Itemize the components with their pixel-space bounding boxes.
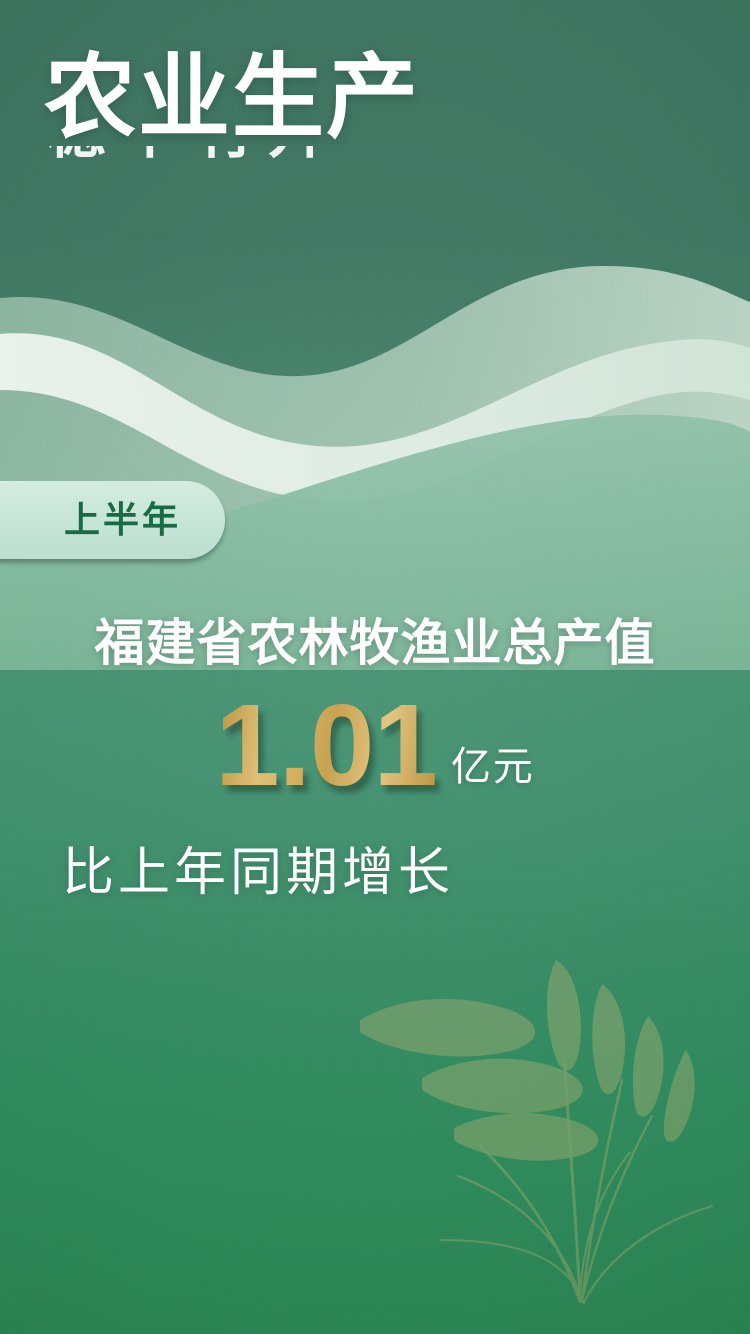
wave-layer-ribbon xyxy=(0,333,750,501)
wheat-illustration xyxy=(330,940,750,1330)
stat-headline: 福建省农林牧渔业总产值 xyxy=(0,616,750,671)
stat-unit: 亿元 xyxy=(451,747,535,787)
subtitle-clip: 稳中有升 xyxy=(44,146,704,168)
wave-layer-back xyxy=(0,266,750,670)
page-subtitle: 稳中有升 xyxy=(46,146,342,162)
stat-value: 1.01 xyxy=(215,692,437,799)
page-title: 农业生产 xyxy=(44,52,704,144)
title-block: 农业生产 稳中有升 xyxy=(44,52,704,168)
period-badge: 上半年 xyxy=(0,481,225,559)
poster-canvas: 农业生产 稳中有升 上半年 福建省农林牧渔业总产值 1.01 亿元 比上年同期增… xyxy=(0,0,750,1334)
wave-decoration xyxy=(0,250,750,670)
stat-figure-row: 1.01 亿元 xyxy=(0,692,750,799)
period-badge-label: 上半年 xyxy=(64,502,181,538)
stat-compare-label: 比上年同期增长 xyxy=(62,845,454,902)
